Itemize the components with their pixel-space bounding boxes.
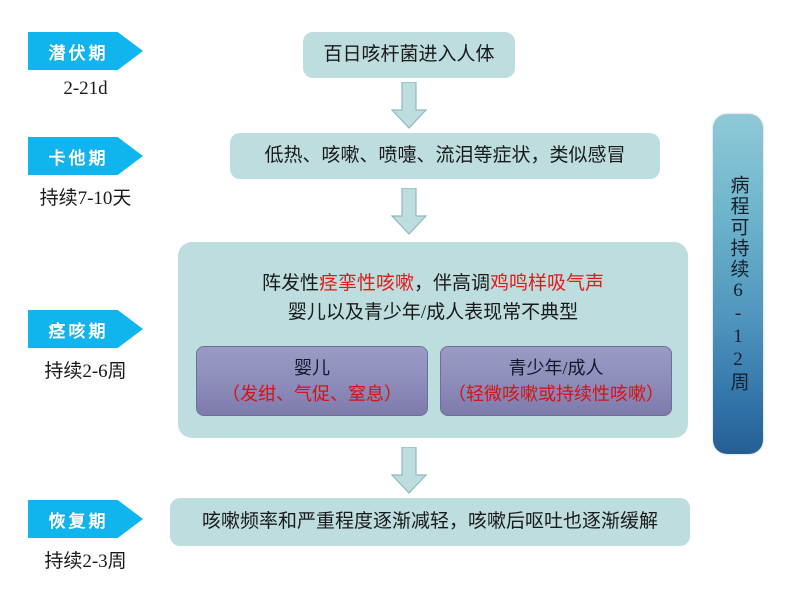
arrow-spasmodic-to-recovery <box>390 447 428 495</box>
spasmodic-line1-part3: ，伴高调 <box>414 273 490 294</box>
stage-duration-text: 持续2-3周 <box>44 551 126 572</box>
spasmodic-subgroup-adolescent-adult: 青少年/成人 （轻微咳嗽或持续性咳嗽） <box>440 346 672 416</box>
stage-label-text: 潜伏期 <box>49 39 109 64</box>
stage-duration-incubation: 2-21d <box>28 78 143 100</box>
flow-box-recovery-text: 咳嗽频率和严重程度逐渐减轻，咳嗽后呕吐也逐渐缓解 <box>202 509 658 535</box>
stage-duration-text: 2-21d <box>63 78 107 99</box>
subgroup-detail: （轻微咳嗽或持续性咳嗽） <box>448 381 664 407</box>
subgroup-detail: （发绀、气促、窒息） <box>222 381 402 407</box>
stage-duration-catarrhal: 持续7-10天 <box>18 183 153 210</box>
flow-box-incubation-text: 百日咳杆菌进入人体 <box>323 42 494 68</box>
spasmodic-headline: 阵发性痉挛性咳嗽，伴高调鸡鸣样吸气声 婴儿以及青少年/成人表现常不典型 <box>178 270 688 327</box>
spasmodic-subgroup-infant: 婴儿 （发绀、气促、窒息） <box>196 346 428 416</box>
flow-box-recovery: 咳嗽频率和严重程度逐渐减轻，咳嗽后呕吐也逐渐缓解 <box>170 498 690 546</box>
diagram-canvas: 潜伏期 2-21d 卡他期 持续7-10天 痉咳期 持续2-6周 恢复期 持续2… <box>0 0 800 598</box>
stage-label-text: 卡他期 <box>49 144 109 169</box>
flow-box-catarrhal-text: 低热、咳嗽、喷嚏、流泪等症状，类似感冒 <box>264 143 625 169</box>
subgroup-title: 婴儿 <box>294 355 330 381</box>
stage-label-incubation: 潜伏期 <box>28 32 143 70</box>
stage-duration-text: 持续7-10天 <box>40 188 132 209</box>
arrow-incubation-to-catarrhal <box>390 82 428 130</box>
stage-label-text: 痉咳期 <box>49 317 109 342</box>
spasmodic-headline-line1: 阵发性痉挛性咳嗽，伴高调鸡鸣样吸气声 <box>178 270 688 299</box>
stage-duration-spasmodic: 持续2-6周 <box>18 356 153 383</box>
spasmodic-headline-line2: 婴儿以及青少年/成人表现常不典型 <box>178 299 688 328</box>
stage-label-recovery: 恢复期 <box>28 500 143 538</box>
stage-label-catarrhal: 卡他期 <box>28 137 143 175</box>
flow-panel-spasmodic: 阵发性痉挛性咳嗽，伴高调鸡鸣样吸气声 婴儿以及青少年/成人表现常不典型 婴儿 （… <box>178 242 688 438</box>
stage-label-spasmodic: 痉咳期 <box>28 310 143 348</box>
spasmodic-line1-part1: 阵发性 <box>262 273 319 294</box>
stage-duration-recovery: 持续2-3周 <box>18 546 153 573</box>
spasmodic-line1-highlight1: 痉挛性咳嗽 <box>319 273 414 294</box>
flow-box-incubation: 百日咳杆菌进入人体 <box>303 32 515 78</box>
flow-box-catarrhal: 低热、咳嗽、喷嚏、流泪等症状，类似感冒 <box>230 133 660 179</box>
stage-duration-text: 持续2-6周 <box>44 361 126 382</box>
spasmodic-line1-highlight2: 鸡鸣样吸气声 <box>490 273 604 294</box>
arrow-catarrhal-to-spasmodic <box>390 188 428 236</box>
total-duration-bar: 病程可持续6-12周 <box>713 114 763 454</box>
total-duration-text: 病程可持续6-12周 <box>725 175 752 393</box>
stage-label-text: 恢复期 <box>49 507 109 532</box>
subgroup-title: 青少年/成人 <box>508 355 603 381</box>
